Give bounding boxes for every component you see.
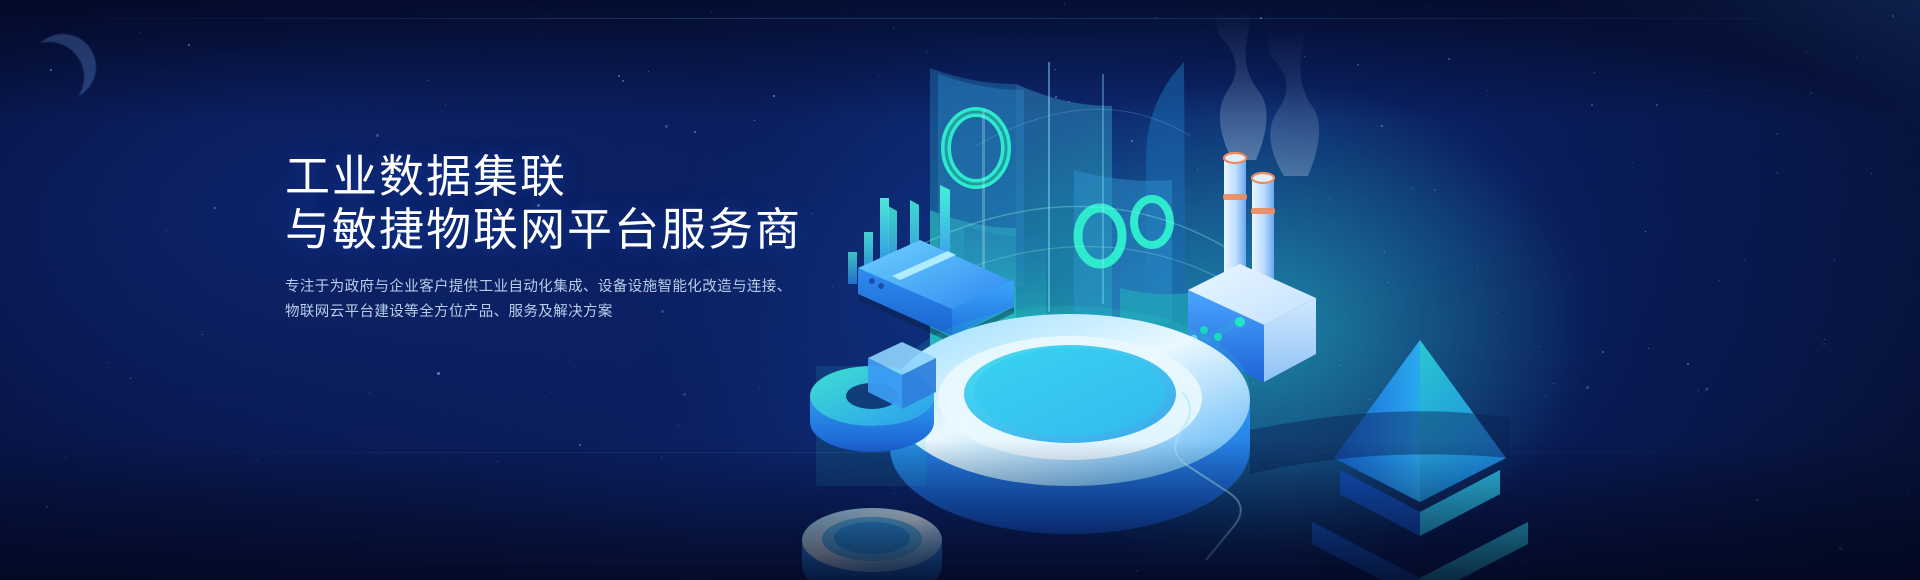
subtitle-line-1: 专注于为政府与企业客户提供工业自动化集成、设备设施智能化改造与连接、 bbox=[285, 275, 845, 300]
moon-decoration bbox=[30, 34, 96, 100]
hero-subtitle: 专注于为政府与企业客户提供工业自动化集成、设备设施智能化改造与连接、 物联网云平… bbox=[285, 275, 845, 325]
headline-line-2: 与敏捷物联网平台服务商 bbox=[285, 203, 845, 256]
subtitle-line-2: 物联网云平台建设等全方位产品、服务及解决方案 bbox=[285, 300, 845, 325]
bottom-gradient-overlay bbox=[0, 440, 1920, 580]
hero-banner: 工业数据集联 与敏捷物联网平台服务商 专注于为政府与企业客户提供工业自动化集成、… bbox=[0, 0, 1920, 580]
hero-copy: 工业数据集联 与敏捷物联网平台服务商 专注于为政府与企业客户提供工业自动化集成、… bbox=[285, 150, 845, 325]
headline-line-1: 工业数据集联 bbox=[285, 150, 845, 203]
